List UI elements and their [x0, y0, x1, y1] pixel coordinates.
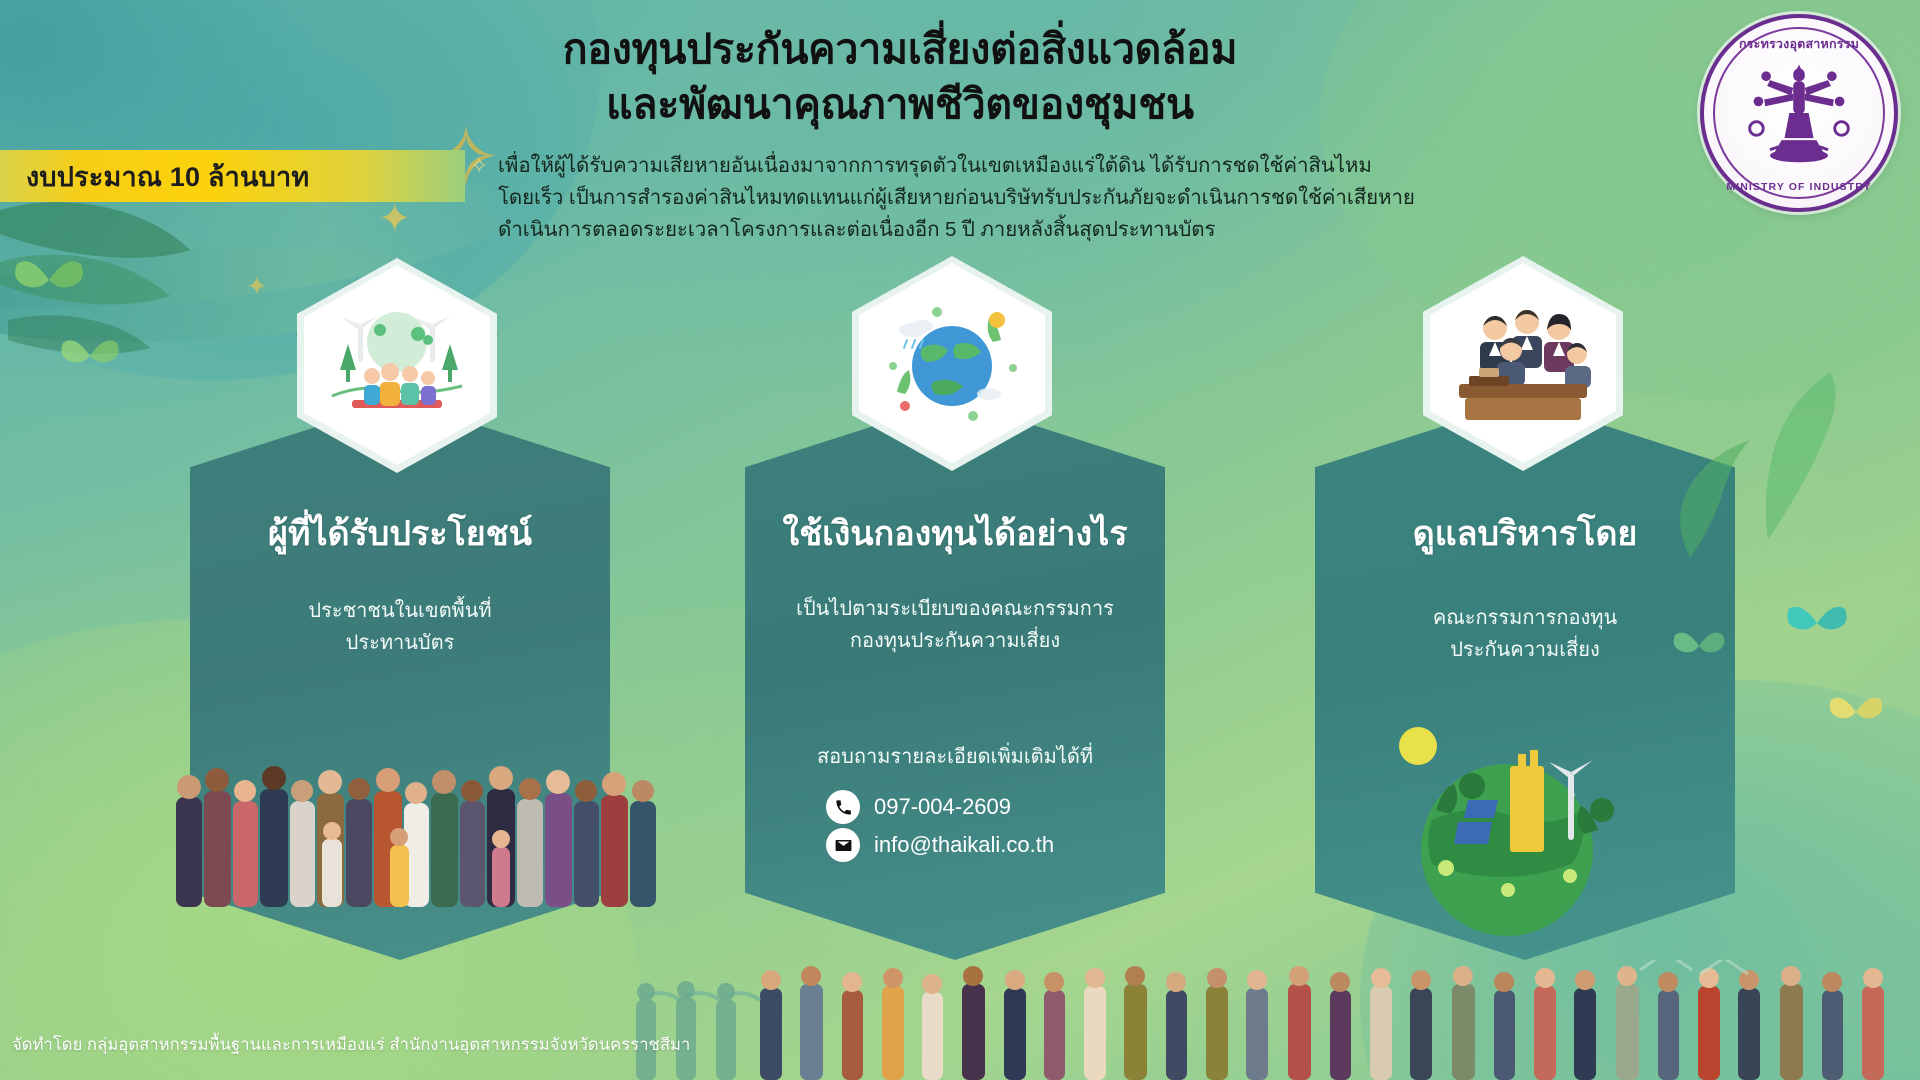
contact-phone-row[interactable]: 097-004-2609 — [826, 790, 1011, 824]
contact-email-row[interactable]: info@thaikali.co.th — [826, 828, 1054, 862]
card2-sub-line-2: กองทุนประกันความเสี่ยง — [735, 625, 1175, 657]
seal-deity-emblem-icon — [1741, 55, 1857, 171]
card-heading-beneficiaries: ผู้ที่ได้รับประโยชน์ — [180, 512, 620, 556]
butterfly-icon-right-3 — [1672, 625, 1726, 667]
budget-label: งบประมาณ 10 ล้านบาท — [26, 152, 446, 200]
committee-board-illustration — [1447, 298, 1599, 428]
footer-credit: จัดทำโดย กลุ่มอุตสาหกรรมพื้นฐานและการเหม… — [12, 1032, 690, 1058]
contact-email-address: info@thaikali.co.th — [874, 832, 1054, 858]
card1-sub-line-2: ประทานบัตร — [180, 627, 620, 659]
card-fund-usage — [745, 400, 1165, 960]
community-family-illustration — [322, 300, 472, 430]
card2-sub-line-1: เป็นไปตามระเบียบของคณะกรรมการ — [735, 593, 1175, 625]
seal-top-text: กระทรวงอุตสาหกรรม — [1704, 34, 1894, 54]
card-subtext-beneficiaries: ประชาชนในเขตพื้นที่ ประทานบัตร — [180, 595, 620, 660]
lead-line-2: โดยเร็ว เป็นการสำรองค่าสินไหมทดแทนแก่ผู้… — [498, 182, 1650, 214]
page-title: กองทุนประกันความเสี่ยงต่อสิ่งแวดล้อม และ… — [420, 22, 1380, 131]
butterfly-icon-right-1 — [1786, 600, 1848, 646]
card-subtext-fund-usage: เป็นไปตามระเบียบของคณะกรรมการ กองทุนประก… — [735, 593, 1175, 658]
green-energy-earth-illustration — [1372, 690, 1642, 940]
lead-line-1: เพื่อให้ผู้ได้รับความเสียหายอันเนื่องมาจ… — [498, 150, 1650, 182]
leaf-decoration-right-1 — [1640, 430, 1760, 570]
lead-line-3: ดำเนินการตลอดระยะเวลาโครงการและต่อเนื่อง… — [498, 214, 1650, 246]
lead-paragraph: เพื่อให้ผู้ได้รับความเสียหายอันเนื่องมาจ… — [498, 150, 1650, 245]
card-heading-fund-usage: ใช้เงินกองทุนได้อย่างไร — [735, 512, 1175, 556]
card1-sub-line-1: ประชาชนในเขตพื้นที่ — [180, 595, 620, 627]
butterfly-icon-left-1 — [14, 250, 84, 310]
seal-bottom-text: MINISTRY OF INDUSTRY — [1704, 181, 1894, 193]
infographic-canvas: ✧ ✦ ✦ ✧ งบประมาณ 10 ล้านบาท กองทุนประกัน… — [0, 0, 1920, 1080]
butterfly-icon-right-2 — [1828, 690, 1884, 734]
contact-lead-text: สอบถามรายละเอียดเพิ่มเติมได้ที่ — [735, 740, 1175, 772]
phone-icon — [826, 790, 860, 824]
page-title-line-2: และพัฒนาคุณภาพชีวิตของชุมชน — [420, 77, 1380, 132]
contact-phone-number: 097-004-2609 — [874, 794, 1011, 820]
page-title-line-1: กองทุนประกันความเสี่ยงต่อสิ่งแวดล้อม — [420, 22, 1380, 77]
people-holding-hands-band-illustration — [0, 960, 1920, 1080]
diverse-crowd-illustration — [172, 735, 672, 925]
envelope-icon — [826, 828, 860, 862]
butterfly-icon-left-2 — [60, 330, 120, 382]
eco-earth-illustration — [877, 296, 1027, 431]
ministry-of-industry-seal: กระทรวงอุตสาหกรรม MINISTRY OF INDUSTRY — [1700, 14, 1898, 212]
leaf-decoration-right-2 — [1760, 370, 1910, 550]
